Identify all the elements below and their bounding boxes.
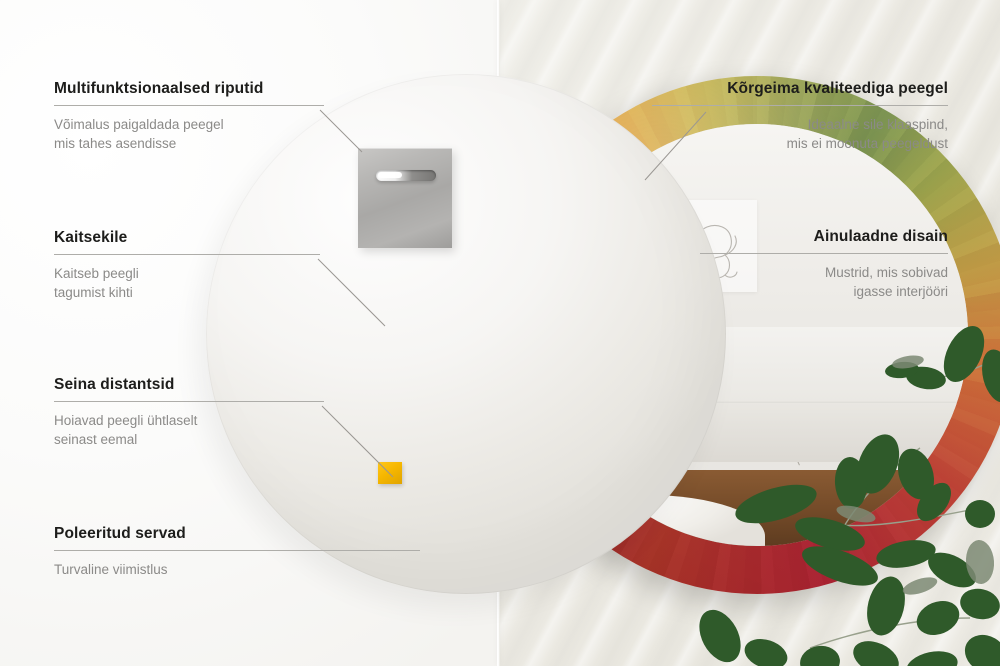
callout-desc-line1: Mustrid, mis sobivad [825,265,948,280]
callout-desc-line2: igasse interjööri [853,284,948,299]
callout-desc-line1: Võimalus paigaldada peegel [54,117,224,132]
callout-rule [700,253,948,254]
callout-desc: Hoiavad peegli ühtlaselt seinast eemal [54,411,324,449]
callout-desc-line1: Hoiavad peegli ühtlaselt [54,413,197,428]
callout-title: Poleeritud servad [54,525,420,543]
callout-desc-line1: Turvaline viimistlus [54,562,168,577]
callout-desc: Ideaalne sile klaaspind, mis ei moonuta … [652,115,948,153]
callout-unique-design: Ainulaadne disain Mustrid, mis sobivad i… [700,228,948,301]
callout-title: Kõrgeima kvaliteediga peegel [652,80,948,98]
callout-rule [54,105,324,106]
callout-top-quality-mirror: Kõrgeima kvaliteediga peegel Ideaalne si… [652,80,948,153]
callout-title: Ainulaadne disain [700,228,948,246]
callout-desc-line2: tagumist kihti [54,285,133,300]
callout-title: Multifunktsionaalsed riputid [54,80,324,98]
callout-polished-edges: Poleeritud servad Turvaline viimistlus [54,525,420,579]
callout-desc-line2: mis tahes asendisse [54,136,176,151]
callout-rule [54,550,420,551]
callout-hangers: Multifunktsionaalsed riputid Võimalus pa… [54,80,324,153]
keyhole-slot-icon [376,170,436,181]
callout-rule [54,254,320,255]
callout-wall-spacers: Seina distantsid Hoiavad peegli ühtlasel… [54,376,324,449]
callout-protective-film: Kaitsekile Kaitseb peegli tagumist kihti [54,229,320,302]
callout-title: Kaitsekile [54,229,320,247]
callout-desc-line2: seinast eemal [54,432,137,447]
metal-hanger-plate [358,148,452,248]
callout-desc: Mustrid, mis sobivad igasse interjööri [700,263,948,301]
callout-desc-line1: Ideaalne sile klaaspind, [808,117,948,132]
callout-desc: Võimalus paigaldada peegel mis tahes ase… [54,115,324,153]
callout-desc-line1: Kaitseb peegli [54,266,139,281]
infographic-canvas: Multifunktsionaalsed riputid Võimalus pa… [0,0,1000,666]
callout-rule [54,401,324,402]
callout-desc-line2: mis ei moonuta peegeldust [787,136,948,151]
callout-desc: Kaitseb peegli tagumist kihti [54,264,320,302]
yellow-wall-spacer [378,462,402,484]
callout-desc: Turvaline viimistlus [54,560,420,579]
callout-title: Seina distantsid [54,376,324,394]
callout-rule [652,105,948,106]
